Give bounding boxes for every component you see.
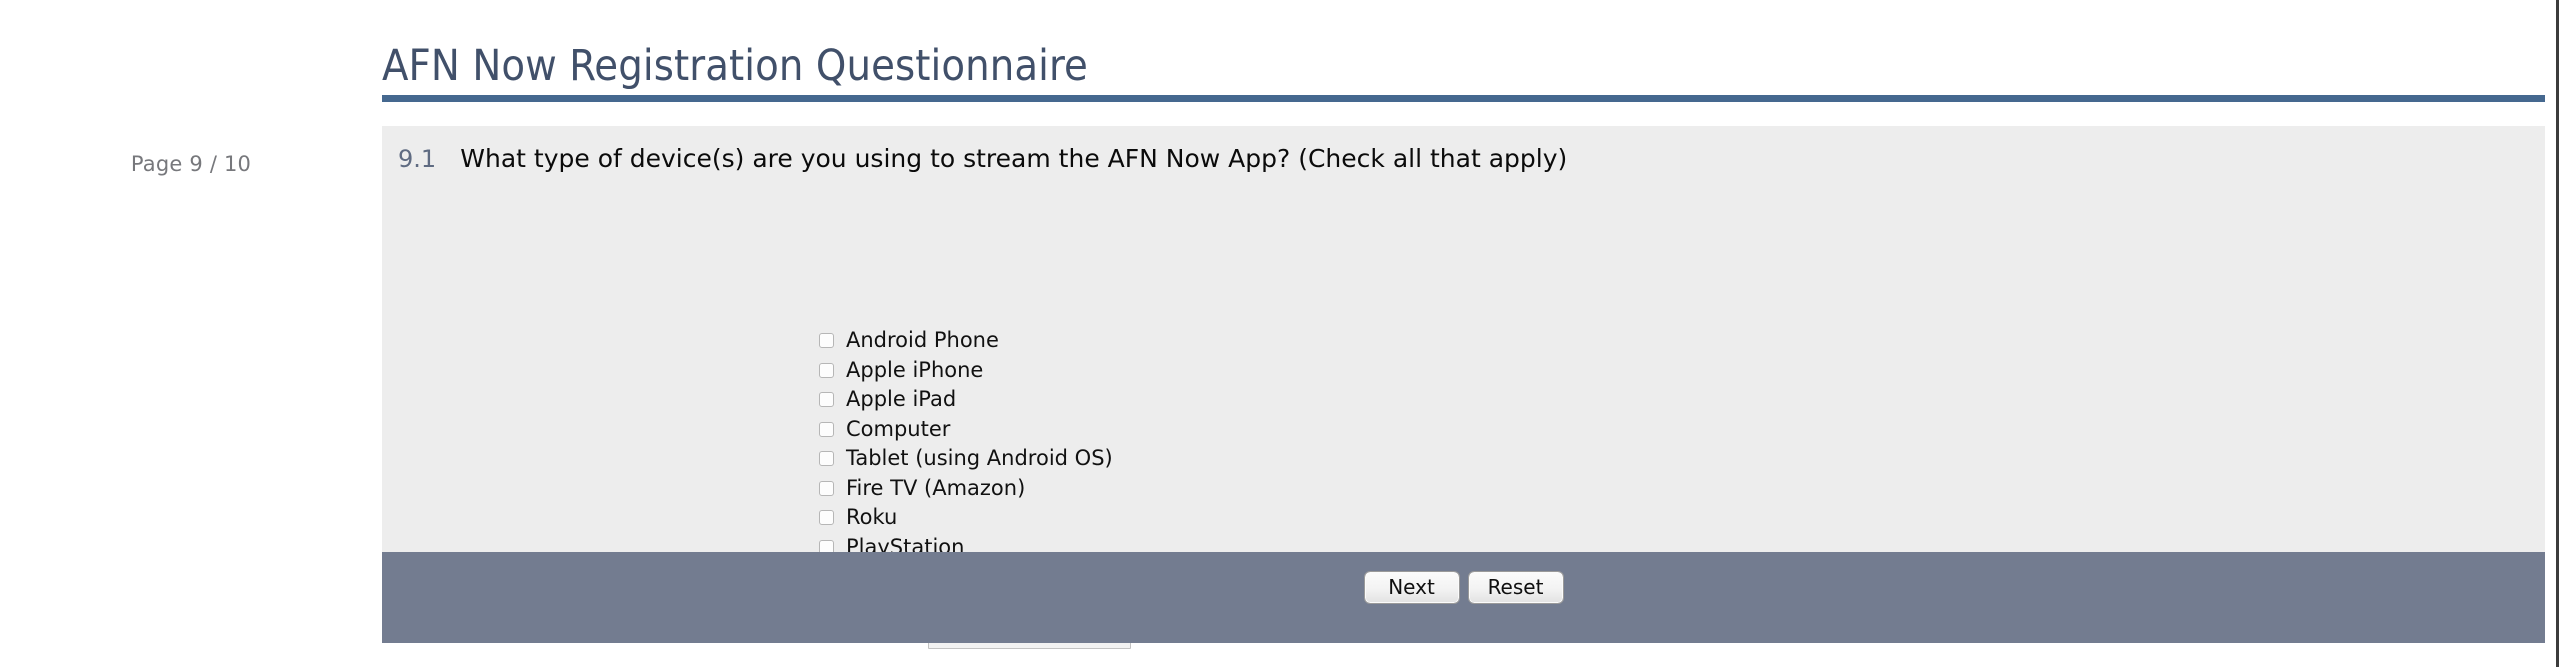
question-panel: 9.1 What type of device(s) are you using… [382, 126, 2545, 552]
page-title: AFN Now Registration Questionnaire [382, 29, 2545, 88]
option-checkbox[interactable] [819, 481, 834, 496]
option-label: Computer [846, 419, 950, 440]
option-row: Android Phone [819, 326, 1131, 356]
option-label: Android Phone [846, 330, 999, 351]
option-checkbox[interactable] [819, 451, 834, 466]
option-label: Apple iPad [846, 389, 956, 410]
option-label: Roku [846, 507, 897, 528]
option-checkbox[interactable] [819, 422, 834, 437]
title-divider [382, 95, 2545, 102]
option-row: Apple iPad [819, 385, 1131, 415]
action-bar: Next Reset [382, 552, 2545, 643]
page-frame: Page 9 / 10 AFN Now Registration Questio… [0, 0, 2559, 667]
option-row: Fire TV (Amazon) [819, 474, 1131, 504]
option-checkbox[interactable] [819, 333, 834, 348]
option-row: Tablet (using Android OS) [819, 444, 1131, 474]
option-row: Apple iPhone [819, 356, 1131, 386]
reset-button[interactable]: Reset [1469, 572, 1563, 603]
option-checkbox[interactable] [819, 363, 834, 378]
option-label: Fire TV (Amazon) [846, 478, 1025, 499]
option-label: Tablet (using Android OS) [846, 448, 1113, 469]
question-text: What type of device(s) are you using to … [460, 144, 1567, 173]
option-checkbox[interactable] [819, 510, 834, 525]
option-label: Apple iPhone [846, 360, 983, 381]
option-row: Roku [819, 503, 1131, 533]
question-header: 9.1 What type of device(s) are you using… [398, 144, 1567, 173]
option-row: Computer [819, 415, 1131, 445]
question-number: 9.1 [398, 145, 436, 173]
page-counter: Page 9 / 10 [0, 152, 382, 176]
option-checkbox[interactable] [819, 392, 834, 407]
next-button[interactable]: Next [1365, 572, 1459, 603]
button-group: Next Reset [382, 552, 2545, 643]
